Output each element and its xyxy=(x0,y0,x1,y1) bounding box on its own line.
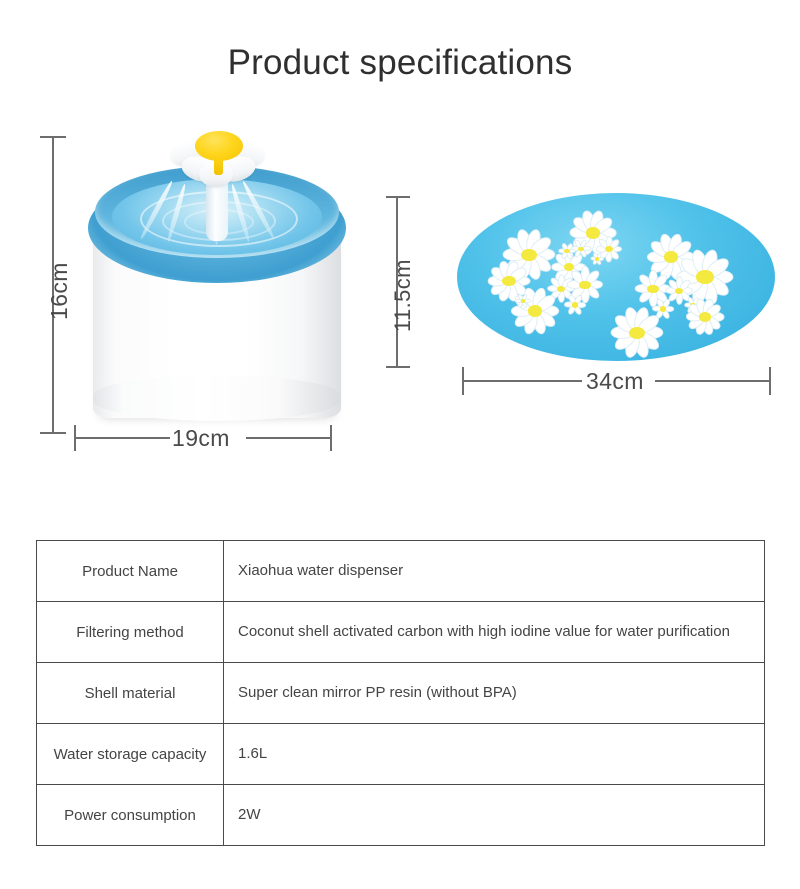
flower-center xyxy=(605,246,613,252)
dimension-cap-top xyxy=(40,136,66,138)
table-row: Water storage capacity1.6L xyxy=(37,724,765,785)
specification-table: Product NameXiaohua water dispenserFilte… xyxy=(36,540,765,846)
daisy-flower-icon xyxy=(515,295,531,307)
dimension-cap-bottom xyxy=(386,366,410,368)
spec-value-cell: Super clean mirror PP resin (without BPA… xyxy=(224,663,765,724)
mat-illustration xyxy=(457,193,775,361)
flower-center xyxy=(528,305,543,317)
dimension-label-height: 16cm xyxy=(46,262,73,320)
flower-center xyxy=(647,285,658,294)
fountain-base-bottom xyxy=(93,375,341,421)
spec-value-cell: Xiaohua water dispenser xyxy=(224,541,765,602)
dimension-label-bowl-height: 11.5cm xyxy=(390,259,416,332)
spec-key-cell: Power consumption xyxy=(37,785,224,846)
flower-center xyxy=(699,312,711,321)
table-row: Product NameXiaohua water dispenser xyxy=(37,541,765,602)
table-row: Filtering methodCoconut shell activated … xyxy=(37,602,765,663)
flower-center xyxy=(595,257,599,260)
dimension-label-diameter: 34cm xyxy=(586,368,644,395)
daisy-flower-icon xyxy=(590,254,604,264)
flower-center xyxy=(195,131,243,161)
spec-value-cell: 1.6L xyxy=(224,724,765,785)
dimension-line-width-left xyxy=(74,437,170,439)
page-title: Product specifications xyxy=(0,43,800,83)
spec-key-cell: Product Name xyxy=(37,541,224,602)
dimension-label-width: 19cm xyxy=(172,425,230,452)
flower-center xyxy=(502,276,515,286)
daisy-flower-icon xyxy=(173,131,263,187)
daisy-flower-icon xyxy=(558,245,576,258)
flower-center xyxy=(586,227,600,238)
specification-table-body: Product NameXiaohua water dispenserFilte… xyxy=(37,541,765,846)
flower-center xyxy=(579,281,590,290)
dimension-line-diameter-right xyxy=(655,380,771,382)
flower-center xyxy=(564,249,570,253)
spec-value-cell: 2W xyxy=(224,785,765,846)
dimension-line-diameter-left xyxy=(462,380,582,382)
dimension-cap-top xyxy=(386,196,410,198)
spec-key-cell: Water storage capacity xyxy=(37,724,224,785)
daisy-flower-icon xyxy=(686,303,724,330)
table-row: Power consumption2W xyxy=(37,785,765,846)
spec-key-cell: Shell material xyxy=(37,663,224,724)
fountain-illustration xyxy=(88,125,360,425)
dimension-line-width-right xyxy=(246,437,332,439)
flower-center xyxy=(696,270,713,284)
spec-key-cell: Filtering method xyxy=(37,602,224,663)
dimension-cap-bottom xyxy=(40,432,66,434)
daisy-flower-icon xyxy=(611,314,663,351)
fountain-stem xyxy=(206,179,228,241)
flower-center xyxy=(572,302,579,307)
table-row: Shell materialSuper clean mirror PP resi… xyxy=(37,663,765,724)
daisy-flower-icon xyxy=(564,297,586,313)
product-figure-area: 16cm 11.5cm 19cm 34cm xyxy=(0,105,800,505)
flower-center xyxy=(660,306,667,311)
spec-value-cell: Coconut shell activated carbon with high… xyxy=(224,602,765,663)
